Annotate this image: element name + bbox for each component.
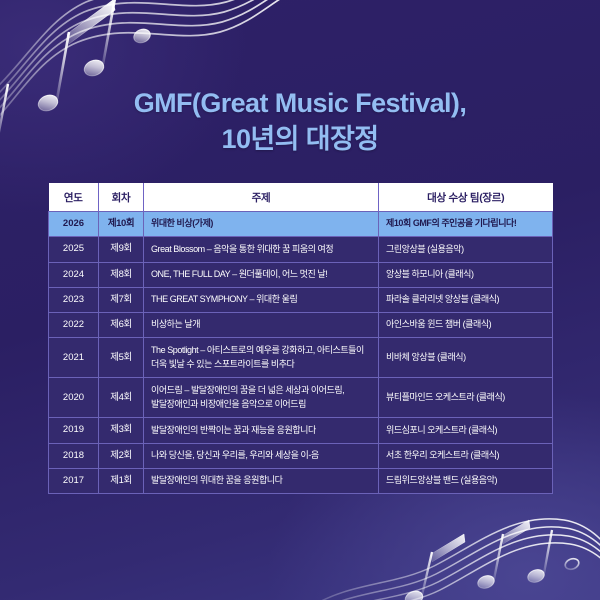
cell-round: 제7회 <box>99 287 144 312</box>
cell-theme: 발달장애인의 위대한 꿈을 응원합니다 <box>144 468 379 493</box>
cell-year: 2025 <box>49 237 99 262</box>
cell-award: 비바체 앙상블 (클래식) <box>379 338 553 378</box>
history-table-wrapper: 연도 회차 주제 대상 수상 팀(장르) 2026제10회위대한 비상(가제)제… <box>48 183 552 494</box>
cell-theme: 위대한 비상(가제) <box>144 212 379 237</box>
cell-theme: 발달장애인의 반짝이는 꿈과 재능을 응원합니다 <box>144 418 379 443</box>
column-header-round: 회차 <box>99 183 144 212</box>
cell-theme-line-2: 더욱 빛날 수 있는 스포트라이트를 비추다 <box>151 358 371 372</box>
cell-theme-line-1: ONE, THE FULL DAY – 원더풀데이, 어느 멋진 날! <box>151 268 371 282</box>
cell-year: 2022 <box>49 313 99 338</box>
cell-award: 제10회 GMF의 주인공을 기다립니다! <box>379 212 553 237</box>
cell-round: 제1회 <box>99 468 144 493</box>
poster-root: GMF(Great Music Festival), 10년의 대장정 연도 회… <box>0 0 600 600</box>
table-header-row: 연도 회차 주제 대상 수상 팀(장르) <box>49 183 553 212</box>
title-line-2: 10년의 대장정 <box>0 122 600 158</box>
cell-award: 드림위드앙상블 밴드 (실용음악) <box>379 468 553 493</box>
cell-year: 2026 <box>49 212 99 237</box>
cell-round: 제10회 <box>99 212 144 237</box>
cell-theme-line-1: Great Blossom – 음악을 통한 위대한 꿈 피움의 여정 <box>151 243 371 257</box>
table-row: 2026제10회위대한 비상(가제)제10회 GMF의 주인공을 기다립니다! <box>49 212 553 237</box>
cell-round: 제9회 <box>99 237 144 262</box>
table-row: 2024제8회ONE, THE FULL DAY – 원더풀데이, 어느 멋진 … <box>49 262 553 287</box>
cell-theme-line-2: 발달장애인과 비장애인을 음악으로 이어드림 <box>151 398 371 412</box>
table-body: 2026제10회위대한 비상(가제)제10회 GMF의 주인공을 기다립니다!2… <box>49 212 553 494</box>
cell-year: 2019 <box>49 418 99 443</box>
cell-round: 제8회 <box>99 262 144 287</box>
cell-award: 앙상블 하모니아 (클래식) <box>379 262 553 287</box>
cell-theme: Great Blossom – 음악을 통한 위대한 꿈 피움의 여정 <box>144 237 379 262</box>
column-header-year: 연도 <box>49 183 99 212</box>
column-header-award: 대상 수상 팀(장르) <box>379 183 553 212</box>
cell-theme-line-1: 이어드림 – 발달장애인의 꿈을 더 넓은 세상과 이어드림, <box>151 384 371 398</box>
music-staff-notes-icon-bottom <box>314 490 600 600</box>
cell-theme-line-1: 발달장애인의 반짝이는 꿈과 재능을 응원합니다 <box>151 424 371 438</box>
cell-award: 위드심포니 오케스트라 (클래식) <box>379 418 553 443</box>
table-row: 2025제9회Great Blossom – 음악을 통한 위대한 꿈 피움의 … <box>49 237 553 262</box>
cell-year: 2017 <box>49 468 99 493</box>
gmf-history-table: 연도 회차 주제 대상 수상 팀(장르) 2026제10회위대한 비상(가제)제… <box>48 183 553 494</box>
table-row: 2021제5회The Spotlight – 아티스트로의 예우를 강화하고, … <box>49 338 553 378</box>
cell-year: 2021 <box>49 338 99 378</box>
cell-round: 제5회 <box>99 338 144 378</box>
cell-theme-line-1: 위대한 비상(가제) <box>151 217 371 231</box>
cell-theme: 이어드림 – 발달장애인의 꿈을 더 넓은 세상과 이어드림,발달장애인과 비장… <box>144 378 379 418</box>
cell-year: 2018 <box>49 443 99 468</box>
cell-year: 2024 <box>49 262 99 287</box>
cell-award: 그린앙상블 (실용음악) <box>379 237 553 262</box>
cell-theme: THE GREAT SYMPHONY – 위대한 울림 <box>144 287 379 312</box>
cell-theme-line-1: THE GREAT SYMPHONY – 위대한 울림 <box>151 293 371 307</box>
cell-round: 제4회 <box>99 378 144 418</box>
column-header-theme: 주제 <box>144 183 379 212</box>
page-title: GMF(Great Music Festival), 10년의 대장정 <box>0 86 600 158</box>
cell-theme-line-1: The Spotlight – 아티스트로의 예우를 강화하고, 아티스트들이 <box>151 344 371 358</box>
cell-round: 제6회 <box>99 313 144 338</box>
cell-round: 제2회 <box>99 443 144 468</box>
table-row: 2017제1회발달장애인의 위대한 꿈을 응원합니다드림위드앙상블 밴드 (실용… <box>49 468 553 493</box>
cell-round: 제3회 <box>99 418 144 443</box>
cell-theme: 나와 당신을, 당신과 우리를, 우리와 세상을 이-음 <box>144 443 379 468</box>
cell-theme: The Spotlight – 아티스트로의 예우를 강화하고, 아티스트들이더… <box>144 338 379 378</box>
table-row: 2020제4회이어드림 – 발달장애인의 꿈을 더 넓은 세상과 이어드림,발달… <box>49 378 553 418</box>
cell-year: 2020 <box>49 378 99 418</box>
cell-year: 2023 <box>49 287 99 312</box>
title-line-1: GMF(Great Music Festival), <box>0 86 600 122</box>
cell-award: 파라솔 클라리넷 앙상블 (클래식) <box>379 287 553 312</box>
table-row: 2022제6회비상하는 날개아인스바움 윈드 챔버 (클래식) <box>49 313 553 338</box>
cell-theme-line-1: 비상하는 날개 <box>151 318 371 332</box>
cell-theme-line-1: 발달장애인의 위대한 꿈을 응원합니다 <box>151 474 371 488</box>
cell-award: 뷰티플마인드 오케스트라 (클래식) <box>379 378 553 418</box>
cell-theme-line-1: 나와 당신을, 당신과 우리를, 우리와 세상을 이-음 <box>151 449 371 463</box>
cell-theme: 비상하는 날개 <box>144 313 379 338</box>
table-row: 2019제3회발달장애인의 반짝이는 꿈과 재능을 응원합니다위드심포니 오케스… <box>49 418 553 443</box>
cell-award: 아인스바움 윈드 챔버 (클래식) <box>379 313 553 338</box>
cell-theme: ONE, THE FULL DAY – 원더풀데이, 어느 멋진 날! <box>144 262 379 287</box>
table-row: 2023제7회THE GREAT SYMPHONY – 위대한 울림파라솔 클라… <box>49 287 553 312</box>
table-row: 2018제2회나와 당신을, 당신과 우리를, 우리와 세상을 이-음서초 한우… <box>49 443 553 468</box>
cell-award: 서초 한우리 오케스트라 (클래식) <box>379 443 553 468</box>
